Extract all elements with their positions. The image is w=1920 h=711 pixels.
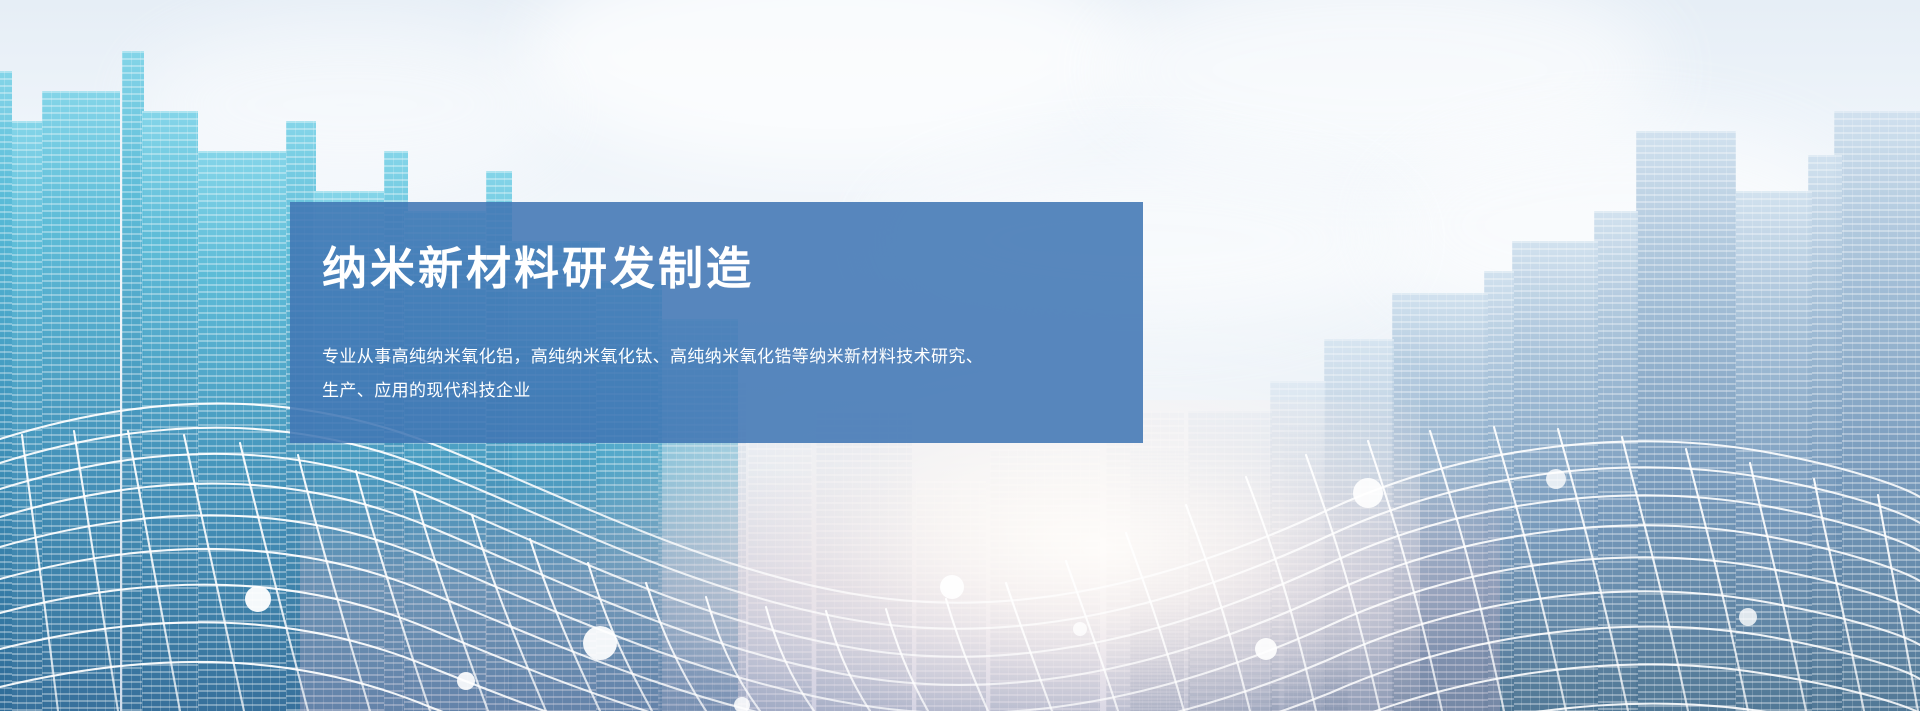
banner-title: 纳米新材料研发制造 bbox=[322, 244, 1143, 294]
right-buildings bbox=[1110, 0, 1920, 711]
hero-text-panel: 纳米新材料研发制造 专业从事高纯纳米氧化铝，高纯纳米氧化钛、高纯纳米氧化锆等纳米… bbox=[290, 202, 1143, 443]
banner-subtitle-line-2: 生产、应用的现代科技企业 bbox=[322, 374, 1122, 408]
banner-subtitle: 专业从事高纯纳米氧化铝，高纯纳米氧化钛、高纯纳米氧化锆等纳米新材料技术研究、 生… bbox=[322, 340, 1122, 408]
banner-subtitle-line-1: 专业从事高纯纳米氧化铝，高纯纳米氧化钛、高纯纳米氧化锆等纳米新材料技术研究、 bbox=[322, 340, 1122, 374]
hero-banner: 纳米新材料研发制造 专业从事高纯纳米氧化铝，高纯纳米氧化钛、高纯纳米氧化锆等纳米… bbox=[0, 0, 1920, 711]
